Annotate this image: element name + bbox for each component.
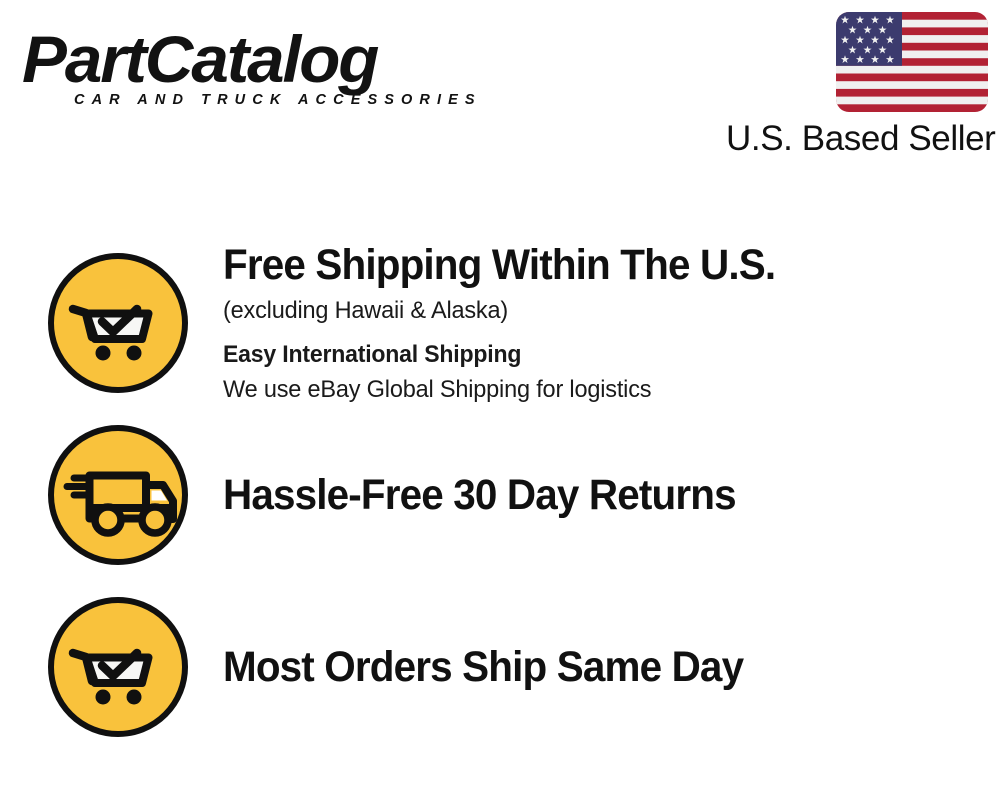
feature-title: Hassle-Free 30 Day Returns: [223, 470, 953, 520]
feature-title: Most Orders Ship Same Day: [223, 642, 953, 692]
us-flag-icon: [836, 12, 988, 112]
feature-text-block: Free Shipping Within The U.S. (excluding…: [223, 237, 1000, 407]
shopping-cart-check-icon: [45, 250, 191, 396]
feature-subtitle-detail: We use eBay Global Shipping for logistic…: [223, 373, 969, 407]
feature-title: Free Shipping Within The U.S.: [223, 240, 953, 290]
shopping-cart-check-icon: [45, 594, 191, 740]
feature-row: Most Orders Ship Same Day: [0, 594, 1000, 740]
feature-row: Hassle-Free 30 Day Returns: [0, 422, 1000, 568]
us-based-seller-label: U.S. Based Seller: [726, 118, 988, 160]
feature-text-block: Hassle-Free 30 Day Returns: [223, 470, 1000, 520]
feature-subtitle-strong: Easy International Shipping: [223, 338, 969, 372]
delivery-truck-icon: [45, 422, 191, 568]
feature-subtitle: (excluding Hawaii & Alaska): [223, 294, 969, 328]
feature-text-block: Most Orders Ship Same Day: [223, 642, 1000, 692]
feature-row: Free Shipping Within The U.S. (excluding…: [0, 237, 1000, 409]
brand-wordmark: PartCatalog: [22, 24, 501, 94]
brand-logo: PartCatalog CAR AND TRUCK ACCESSORIES: [22, 24, 492, 114]
